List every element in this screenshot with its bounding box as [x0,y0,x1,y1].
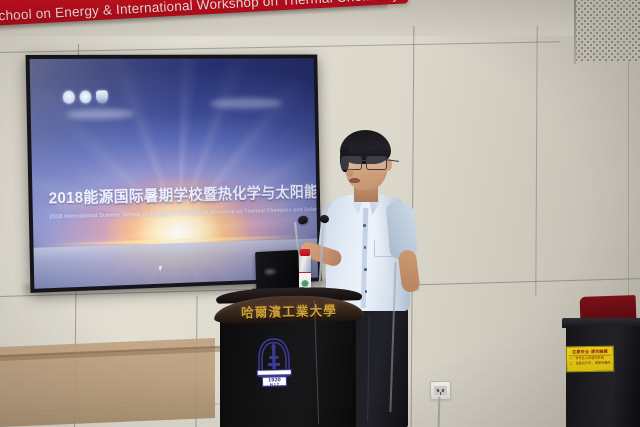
hit-university-crest: 1920 H I T [255,336,292,391]
outlet-slot [442,389,445,392]
equipment-cabinet[interactable] [566,326,640,427]
warning-title: 注意安全 请勿触摸 [569,349,611,355]
glasses-bridge [360,160,366,161]
acoustic-panel [576,0,640,62]
institution-logo-3-icon [96,91,108,104]
shirt-button [364,268,367,271]
shirt-button [365,290,368,293]
slide-logo-row [63,91,108,104]
warning-line-2: 二、设备运行中，请保持通风 [569,360,611,365]
outlet-face [434,386,447,395]
institution-logo-2-icon [79,91,91,104]
wall-power-outlet[interactable] [430,381,451,401]
laptop[interactable] [255,250,299,292]
bottle-label-mark-icon [301,280,309,287]
presenter-eyebrow [368,153,381,155]
institution-logo-1-icon [63,91,75,104]
wall-seam-vertical [628,60,629,300]
glasses-icon [341,156,387,168]
crest-abbrev: H I T [270,382,280,386]
laptop-logo-icon [264,267,278,276]
glasses-lens-right [366,156,387,170]
cabinet-warning-label: 注意安全 请勿触摸 一、非专业人员请勿开启 二、设备运行中，请保持通风 [566,346,614,373]
shirt-button [363,224,366,227]
shirt-button [364,246,367,249]
presenter-nose [347,168,353,177]
bottle-cap [300,249,310,256]
podium-inscription: 哈爾濱工業大學 [214,299,364,322]
outlet-slot [436,389,439,392]
conference-photo: chool on Energy & International Workshop… [0,0,640,427]
presenter-mouth [349,178,360,183]
acoustic-panel-edge [574,0,576,64]
outlet-slot [440,392,442,395]
